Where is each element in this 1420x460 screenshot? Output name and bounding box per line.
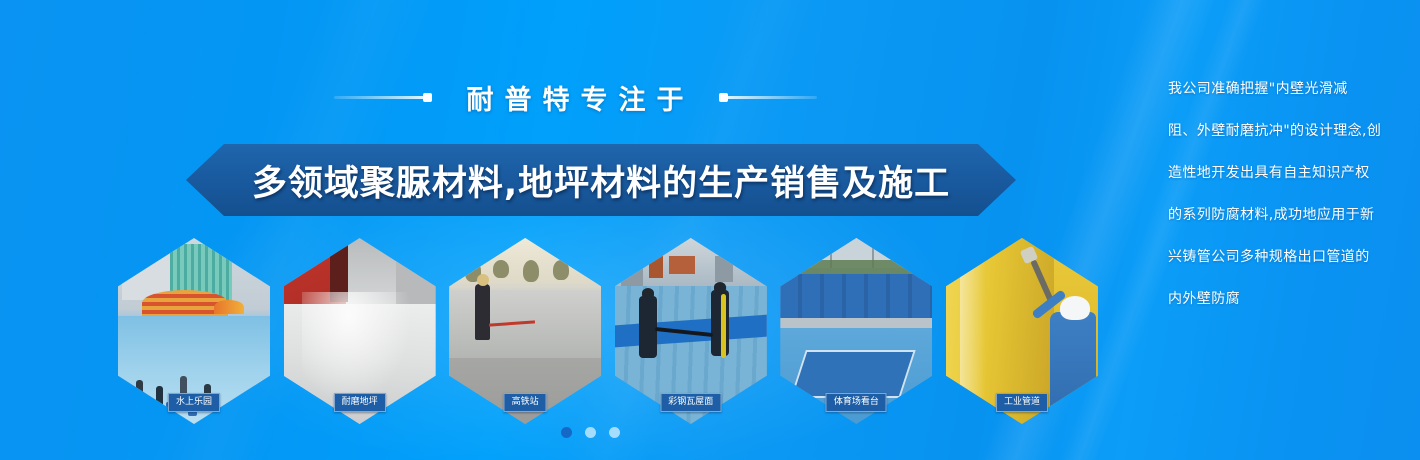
decorative-rule-right-icon	[721, 96, 817, 99]
description-line: 的系列防腐材料,成功地应用于新	[1168, 208, 1390, 222]
thumbnail-row: 水上乐园 耐磨地坪 高铁站	[118, 238, 1098, 424]
thumbnail-caption: 体育场看台	[826, 393, 887, 412]
description-line: 阻、外壁耐磨抗冲"的设计理念,创	[1168, 124, 1390, 138]
decorative-rule-left-icon	[334, 96, 430, 99]
thumbnail-stadium-grandstand[interactable]: 体育场看台	[780, 238, 932, 424]
thumbnail-caption: 高铁站	[504, 393, 547, 412]
thumbnail-wear-resistant-floor[interactable]: 耐磨地坪	[284, 238, 436, 424]
description-line: 我公司准确把握"内壁光滑减	[1168, 82, 1390, 96]
thumbnail-caption: 耐磨地坪	[334, 393, 386, 412]
thumbnail-high-speed-rail-station[interactable]: 高铁站	[449, 238, 601, 424]
promo-banner: 耐普特专注于 多领域聚脲材料,地坪材料的生产销售及施工 水上乐园	[0, 0, 1420, 460]
description-paragraph: 我公司准确把握"内壁光滑减 阻、外壁耐磨抗冲"的设计理念,创 造性地开发出具有自…	[1168, 82, 1390, 306]
thumbnail-industrial-pipeline[interactable]: 工业管道	[946, 238, 1098, 424]
thumbnail-caption: 水上乐园	[168, 393, 220, 412]
description-line: 造性地开发出具有自主知识产权	[1168, 166, 1390, 180]
carousel-dot-2[interactable]	[585, 427, 596, 438]
thumbnail-caption: 彩钢瓦屋面	[660, 393, 721, 412]
description-line: 兴铸管公司多种规格出口管道的	[1168, 250, 1390, 264]
page-title: 多领域聚脲材料,地坪材料的生产销售及施工	[252, 155, 950, 206]
carousel-dot-1[interactable]	[561, 427, 572, 438]
thumbnail-water-park[interactable]: 水上乐园	[118, 238, 270, 424]
headline-row: 耐普特专注于	[0, 78, 1150, 117]
thumbnail-caption: 工业管道	[996, 393, 1048, 412]
title-ribbon: 多领域聚脲材料,地坪材料的生产销售及施工	[186, 144, 1016, 216]
headline-text: 耐普特专注于	[456, 78, 695, 117]
carousel-pagination	[0, 427, 1180, 438]
thumbnail-color-steel-tile-roof[interactable]: 彩钢瓦屋面	[615, 238, 767, 424]
description-line: 内外壁防腐	[1168, 292, 1390, 306]
carousel-dot-3[interactable]	[609, 427, 620, 438]
